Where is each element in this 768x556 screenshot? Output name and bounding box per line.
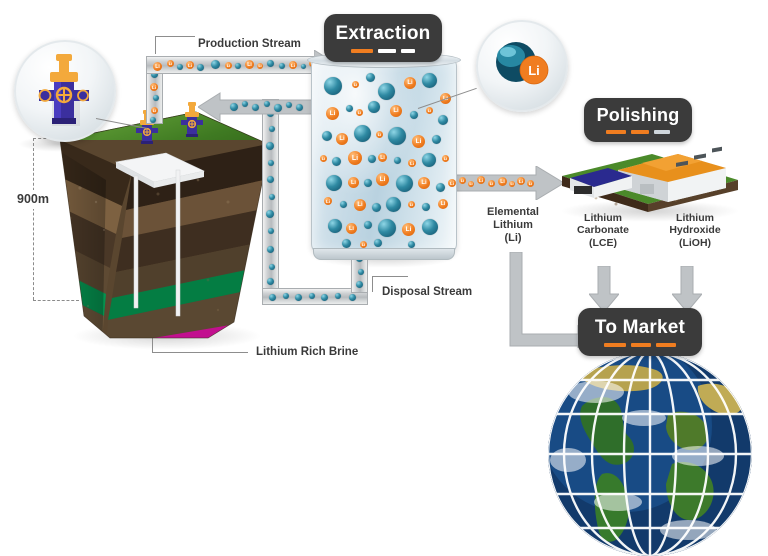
production-label-leader-h <box>155 36 195 37</box>
stage-chip-to-market-label: To Market <box>595 318 685 337</box>
lithium-carbonate-line-2: Carbonate <box>560 224 646 236</box>
stage-chip-extraction-label: Extraction <box>336 24 431 43</box>
disposal-label-leader-v <box>372 276 373 292</box>
stage-chip-polishing-dashes <box>606 130 670 134</box>
extraction-vessel: Li Li Li Li Li Li Li Li Li Li Li Li L <box>311 58 457 254</box>
disposal-stream-label: Disposal Stream <box>382 286 472 300</box>
elemental-lithium-line-3: (Li) <box>470 232 556 245</box>
stage-chip-polishing-label: Polishing <box>597 106 680 124</box>
stage-chip-to-market-dashes <box>604 343 676 347</box>
polishing-plant <box>556 140 742 216</box>
elemental-lithium-particles: Li Li Li Li Li Li Li Li Li <box>446 174 538 192</box>
lithium-carbonate-line-3: (LCE) <box>560 237 646 249</box>
stage-chip-to-market[interactable]: To Market <box>578 308 702 356</box>
lce-down-arrow <box>589 266 619 312</box>
return-riser-pipe <box>262 99 279 289</box>
elemental-lithium-line-1: Elemental <box>470 206 556 219</box>
depth-line-vertical <box>33 138 34 300</box>
production-stream-pipe: Li Li Li Li Li Li Li Li <box>146 56 322 74</box>
return-riser-particles <box>263 100 278 288</box>
stage-chip-extraction[interactable]: Extraction <box>324 14 442 62</box>
lithium-hydroxide-label: Lithium Hydroxide (LiOH) <box>650 212 740 249</box>
elemental-lithium-line-2: Lithium <box>470 219 556 232</box>
molecule-icon: Li <box>494 40 550 95</box>
wellhead-icon-magnified <box>36 52 94 137</box>
infographic-canvas: 900m <box>0 0 768 432</box>
production-stream-label: Production Stream <box>198 38 301 52</box>
production-stream-particles: Li Li Li Li Li Li Li Li <box>147 57 321 73</box>
geological-cross-section <box>58 110 270 340</box>
globe-icon <box>548 352 752 556</box>
vessel-base <box>313 248 455 260</box>
stage-chip-polishing[interactable]: Polishing <box>584 98 692 142</box>
svg-text:Li: Li <box>528 63 540 78</box>
return-stream-particles <box>226 99 310 115</box>
stage-chip-extraction-dashes <box>351 49 415 53</box>
lithium-hydroxide-line-3: (LiOH) <box>650 237 740 249</box>
depth-label: 900m <box>14 190 52 209</box>
production-label-leader-v <box>155 36 156 54</box>
lithium-hydroxide-line-2: Hydroxide <box>650 224 740 236</box>
brine-leader-h <box>152 352 248 353</box>
elemental-lithium-label: Elemental Lithium (Li) <box>470 206 556 245</box>
disposal-label-leader-h <box>372 276 408 277</box>
lithium-rich-brine-label: Lithium Rich Brine <box>256 346 358 360</box>
lithium-carbonate-label: Lithium Carbonate (LCE) <box>560 212 646 249</box>
lioh-down-arrow <box>672 266 702 312</box>
vessel-contents: Li Li Li Li Li Li Li Li Li Li Li Li L <box>312 59 456 253</box>
